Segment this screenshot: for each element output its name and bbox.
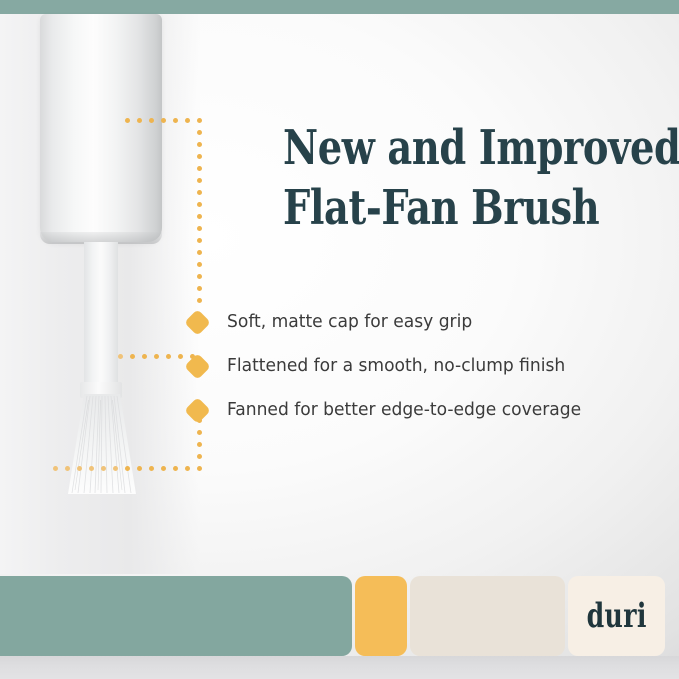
top-banner — [0, 0, 679, 14]
diamond-bullet-icon — [184, 397, 211, 424]
list-item: Soft, matte cap for easy grip — [188, 300, 658, 344]
product-image — [32, 14, 192, 484]
brand-logo-text: duri — [586, 599, 646, 633]
list-item: Flattened for a smooth, no-clump finish — [188, 344, 658, 388]
bottom-color-bar: duri — [0, 576, 679, 656]
list-item-label: Soft, matte cap for easy grip — [227, 311, 472, 333]
bar-segment-beige — [410, 576, 565, 656]
headline-line-1: New and Improved — [283, 118, 587, 178]
ad-canvas: New and Improved Flat-Fan Brush Soft, ma… — [0, 0, 679, 679]
bar-segment-amber — [355, 576, 407, 656]
brand-logo-tile: duri — [568, 576, 665, 656]
list-item: Fanned for better edge-to-edge coverage — [188, 388, 658, 432]
bar-segment-green — [0, 576, 352, 656]
feature-list: Soft, matte cap for easy grip Flattened … — [188, 300, 658, 432]
diamond-bullet-icon — [184, 353, 211, 380]
list-item-label: Flattened for a smooth, no-clump finish — [227, 355, 565, 377]
brush-stem — [84, 242, 118, 394]
headline-line-2: Flat-Fan Brush — [283, 178, 587, 238]
brush-bristles — [50, 394, 154, 498]
diamond-bullet-icon — [184, 309, 211, 336]
headline: New and Improved Flat-Fan Brush — [283, 118, 587, 238]
bottom-shadow-strip — [0, 656, 679, 679]
bottle-cap — [40, 14, 162, 242]
list-item-label: Fanned for better edge-to-edge coverage — [227, 399, 581, 421]
